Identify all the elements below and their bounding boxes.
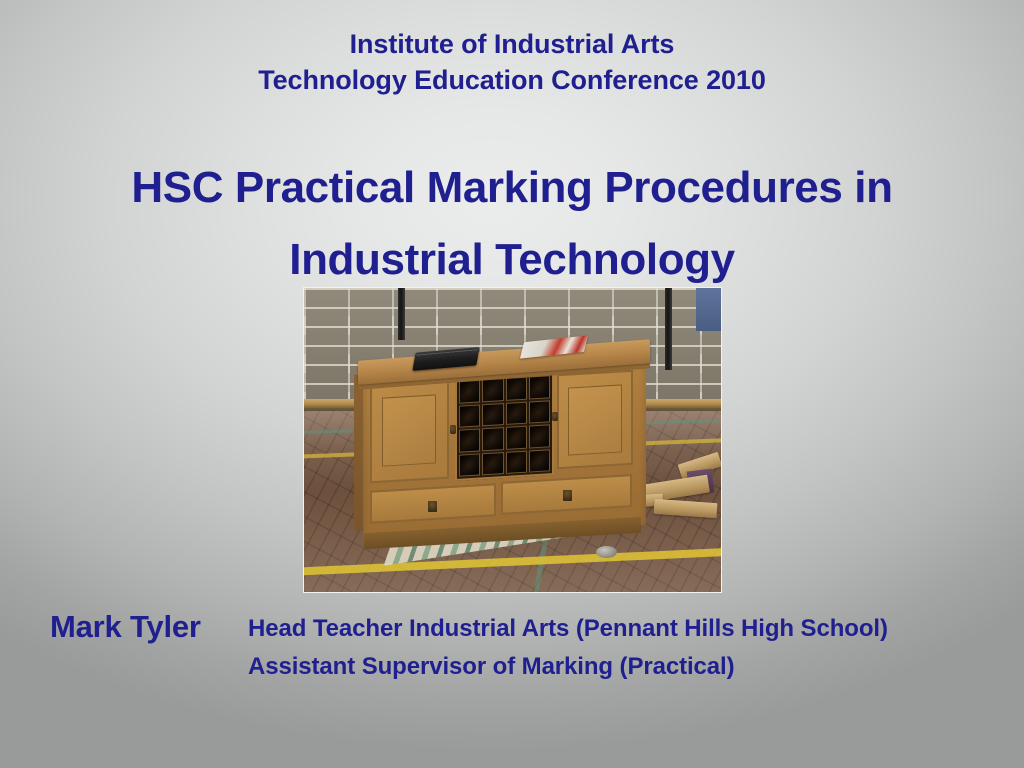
cabinet-door-left <box>370 378 449 483</box>
presenter-role-line-2: Assistant Supervisor of Marking (Practic… <box>248 652 735 682</box>
wine-rack-cell <box>459 453 480 477</box>
photo-scene <box>304 288 721 592</box>
wine-rack-cell <box>505 450 526 474</box>
cabinet-photo <box>303 287 722 593</box>
wine-rack-cell <box>459 404 480 428</box>
wine-rack-cell <box>528 425 549 449</box>
wine-rack-cell <box>482 427 503 451</box>
blue-wall-panel <box>696 288 721 331</box>
wine-rack-cell <box>505 426 526 450</box>
support-pole-right <box>665 288 672 370</box>
slide-header: Institute of Industrial Arts Technology … <box>0 26 1024 98</box>
header-line-2: Technology Education Conference 2010 <box>0 62 1024 98</box>
door-knob-left <box>450 425 456 434</box>
presenter-name: Mark Tyler <box>50 610 201 644</box>
title-line-1: HSC Practical Marking Procedures in <box>0 152 1024 224</box>
drawer-pull-right <box>563 490 572 501</box>
presenter-role-line-1: Head Teacher Industrial Arts (Pennant Hi… <box>248 614 888 644</box>
wine-rack-cell <box>528 449 549 473</box>
wine-rack-cell <box>505 377 526 401</box>
slide-title: HSC Practical Marking Procedures in Indu… <box>0 152 1024 296</box>
wine-rack-cell <box>482 378 503 402</box>
wine-rack-cell <box>459 429 480 453</box>
wine-rack-cell <box>482 403 503 427</box>
wine-rack-cell <box>505 401 526 425</box>
title-line-2: Industrial Technology <box>0 224 1024 296</box>
door-knob-right <box>552 412 558 421</box>
drawer-pull-left <box>428 501 437 512</box>
wine-rack-cell <box>528 400 549 424</box>
header-line-1: Institute of Industrial Arts <box>0 26 1024 62</box>
wine-rack-cell <box>528 375 549 399</box>
presenter-details: Mark Tyler Head Teacher Industrial Arts … <box>0 610 1024 644</box>
wine-rack-cell <box>482 452 503 476</box>
wine-rack-cell <box>459 380 480 404</box>
wine-rack <box>455 371 554 481</box>
cabinet-door-right <box>557 370 633 470</box>
timber-sideboard-cabinet <box>358 328 650 550</box>
presenter-row: Mark Tyler Head Teacher Industrial Arts … <box>0 610 1024 644</box>
presentation-slide: Institute of Industrial Arts Technology … <box>0 0 1024 768</box>
